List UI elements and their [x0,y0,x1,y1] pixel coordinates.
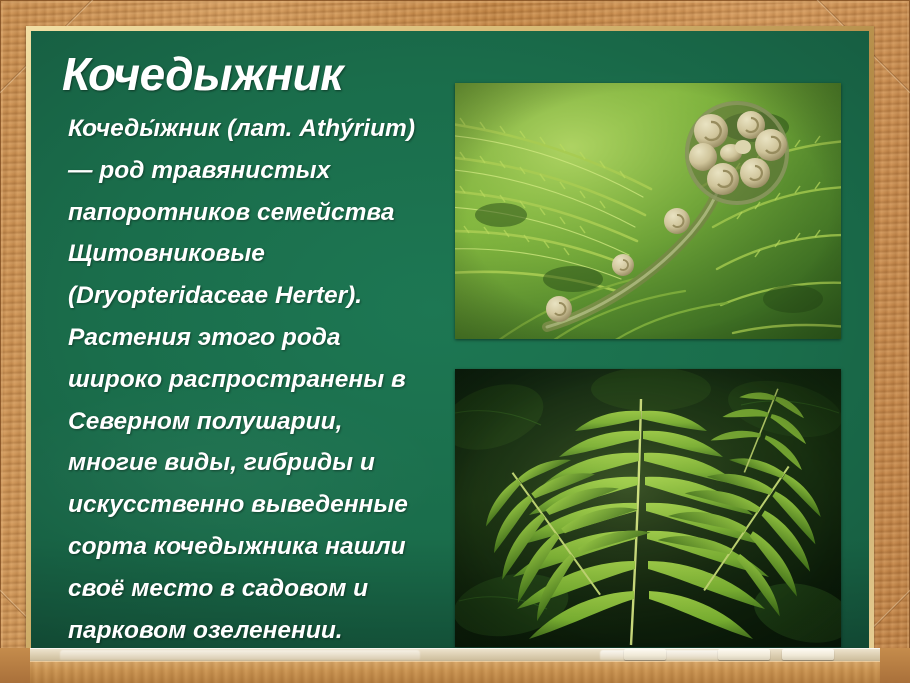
chalk-stick[interactable] [624,649,666,660]
page-title: Кочедыжник [31,46,435,102]
chalk-stick[interactable] [718,649,770,660]
body-paragraph: Кочеды́жник (лат. Athýrium) — род травян… [31,108,435,651]
chalk-ledge-cap-right [880,648,910,683]
chalk-ledge [0,648,910,683]
chalk-ledge-front [12,661,898,683]
fern-fronds-photo [455,369,841,647]
text-column: Кочедыжник Кочеды́жник (лат. Athýrium) —… [31,46,435,651]
chalk-stick[interactable] [782,649,834,660]
chalkboard-slide: Кочедыжник Кочеды́жник (лат. Athýrium) —… [0,0,910,683]
chalk-ledge-cap-left [0,648,30,683]
fern-fiddlehead-photo [455,83,841,339]
chalk-dust [60,650,420,660]
